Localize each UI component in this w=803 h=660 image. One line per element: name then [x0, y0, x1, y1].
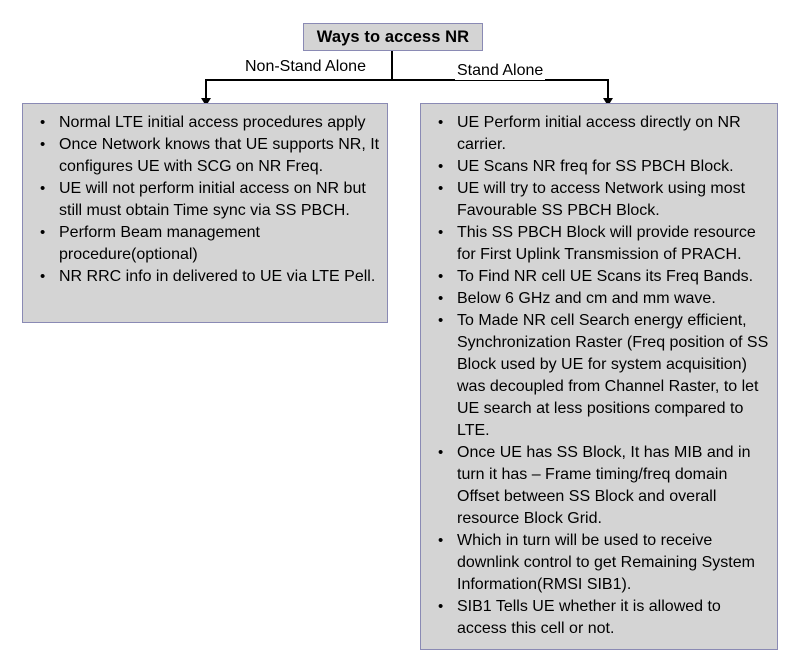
list-item: Once Network knows that UE supports NR, … [29, 134, 381, 178]
connector-drop-left [205, 79, 207, 99]
list-item: Once UE has SS Block, It has MIB and in … [427, 442, 771, 530]
list-item: UE will try to access Network using most… [427, 178, 771, 222]
list-item: This SS PBCH Block will provide resource… [427, 222, 771, 266]
list-item: Perform Beam management procedure(option… [29, 222, 381, 266]
branch-label-non-stand-alone: Non-Stand Alone [243, 58, 368, 76]
list-item: Below 6 GHz and cm and mm wave. [427, 288, 771, 310]
list-item: UE Scans NR freq for SS PBCH Block. [427, 156, 771, 178]
list-item: Normal LTE initial access procedures app… [29, 112, 381, 134]
list-item: Which in turn will be used to receive do… [427, 530, 771, 596]
bullet-list-non-stand-alone: Normal LTE initial access procedures app… [29, 112, 381, 288]
list-item: To Find NR cell UE Scans its Freq Bands. [427, 266, 771, 288]
list-item: To Made NR cell Search energy efficient,… [427, 310, 771, 442]
list-item: NR RRC info in delivered to UE via LTE P… [29, 266, 381, 288]
content-box-stand-alone: UE Perform initial access directly on NR… [420, 103, 778, 650]
bullet-list-stand-alone: UE Perform initial access directly on NR… [427, 112, 771, 640]
title-box-ways-to-access-nr: Ways to access NR [303, 23, 483, 51]
content-box-non-stand-alone: Normal LTE initial access procedures app… [22, 103, 388, 323]
list-item: SIB1 Tells UE whether it is allowed to a… [427, 596, 771, 640]
connector-stem-vertical [391, 51, 393, 80]
list-item: UE will not perform initial access on NR… [29, 178, 381, 222]
page-title: Ways to access NR [317, 28, 469, 47]
connector-drop-right [607, 79, 609, 99]
list-item: UE Perform initial access directly on NR… [427, 112, 771, 156]
connector-horizontal-rail [205, 79, 609, 81]
branch-label-stand-alone: Stand Alone [455, 62, 545, 80]
